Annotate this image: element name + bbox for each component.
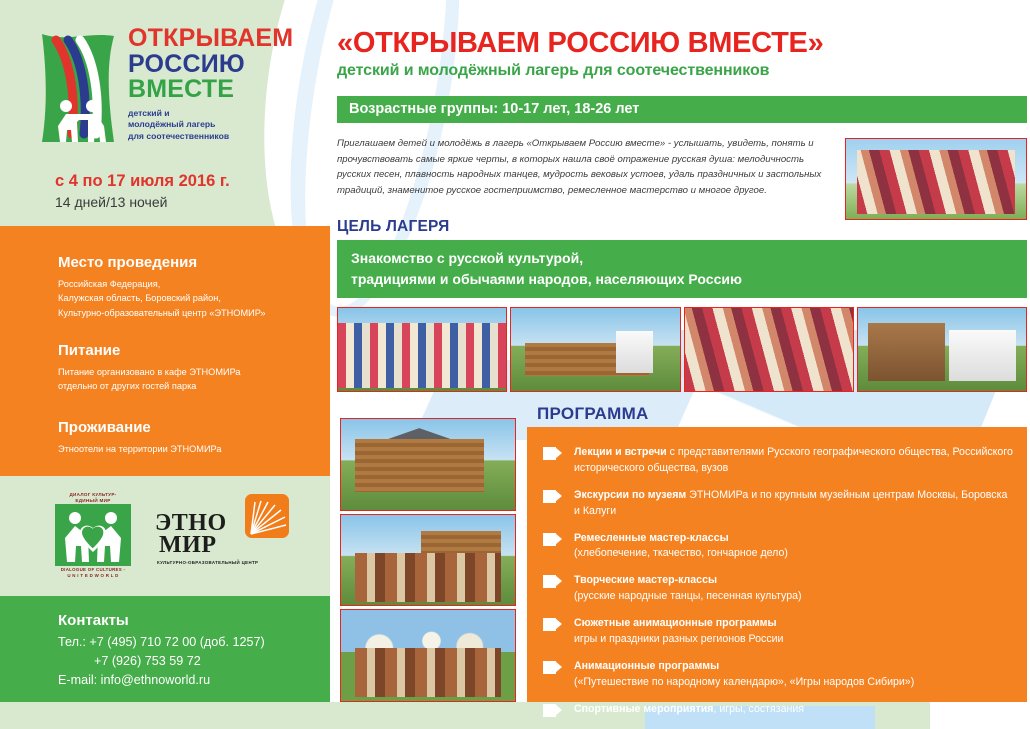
program-item: Ремесленные мастер-классы (хлебопечение,… (543, 531, 1013, 563)
program-item: Анимационные программы («Путешествие по … (543, 659, 1013, 691)
age-groups-band: Возрастные группы: 10-17 лет, 18-26 лет (337, 96, 1027, 123)
program-item-lead: Ремесленные мастер-классы (574, 532, 729, 544)
program-item-lead: Анимационные программы (574, 660, 719, 672)
intro-paragraph: Приглашаем детей и молодёжь в лагерь «От… (337, 136, 832, 198)
program-item-rest: (хлебопечение, ткачество, гончарное дело… (574, 547, 788, 559)
photo-strip-item-3 (684, 307, 854, 392)
program-item-lead: Сюжетные анимационные программы (574, 617, 777, 629)
section-body-accommodation: Этноотели на территории ЭТНОМИРа (58, 442, 290, 456)
logo-line-1: ОТКРЫВАЕМ (128, 26, 308, 52)
date-duration: 14 дней/13 ночей (55, 193, 315, 212)
camp-dates: с 4 по 17 июля 2016 г. 14 дней/13 ночей (55, 172, 315, 212)
logo-line-3: ВМЕСТЕ (128, 77, 308, 103)
etnomir-sunburst-icon (245, 494, 289, 538)
tag-bullet-icon (543, 490, 562, 503)
dialogue-logo-caption-bottom: DIALOGUE OF CULTURES - U N I T E D W O R… (55, 567, 131, 578)
logo-line-2: РОССИЮ (128, 52, 308, 78)
photo-strip (337, 307, 1027, 392)
photo-column-left (340, 418, 516, 702)
contacts-heading: Контакты (58, 612, 330, 629)
tag-bullet-icon (543, 661, 562, 674)
page-subtitle: детский и молодёжный лагерь для соотечес… (337, 62, 1027, 80)
dialogue-logo-caption-top: ДИАЛОГ КУЛЬТУР- ЕДИНЫЙ МИР (55, 492, 131, 503)
dialogue-logo-mark-icon (55, 504, 131, 566)
tag-bullet-icon (543, 533, 562, 546)
date-range: с 4 по 17 июля 2016 г. (55, 172, 315, 192)
flag-people-logo-icon (36, 30, 122, 148)
tag-bullet-icon (543, 447, 562, 460)
brand-logo: ОТКРЫВАЕМ РОССИЮ ВМЕСТЕ детский и молодё… (36, 26, 306, 166)
section-heading-accommodation: Проживание (58, 419, 290, 437)
etnomir-logo: ЭТНО МИР КУЛЬТУРНО-ОБРАЗОВАТЕЛЬНЫЙ ЦЕНТР (155, 494, 305, 576)
contacts-panel: Контакты Тел.: +7 (495) 710 72 00 (доб. … (0, 596, 330, 702)
program-item-rest: игры и праздники разных регионов России (574, 633, 783, 645)
contacts-email[interactable]: E-mail: info@ethnoworld.ru (58, 671, 330, 690)
contacts-phone-secondary[interactable]: +7 (926) 753 59 72 (58, 652, 330, 671)
tag-bullet-icon (543, 575, 562, 588)
photo-column-item-1 (340, 418, 516, 511)
contacts-phone-primary[interactable]: Тел.: +7 (495) 710 72 00 (доб. 1257) (58, 633, 330, 652)
goal-heading: ЦЕЛЬ ЛАГЕРЯ (337, 218, 449, 236)
logo-subtitle: детский и молодёжный лагерь для соотечес… (128, 108, 308, 143)
dialogue-of-cultures-logo: ДИАЛОГ КУЛЬТУР- ЕДИНЫЙ МИР DIALOGUE OF C… (55, 492, 131, 576)
program-list: Лекции и встречи с представителями Русск… (527, 427, 1027, 718)
poster-root: ОТКРЫВАЕМ РОССИЮ ВМЕСТЕ детский и молодё… (0, 0, 1030, 729)
info-orange-panel: Место проведения Российская Федерация, К… (0, 226, 330, 476)
program-item-rest: («Путешествие по народному календарю», «… (574, 676, 914, 688)
goal-text: Знакомство с русской культурой, традиция… (337, 240, 1027, 290)
program-item-lead: Спортивные мероприятия (574, 703, 713, 715)
program-item: Лекции и встречи с представителями Русск… (543, 445, 1013, 477)
program-panel: Лекции и встречи с представителями Русск… (527, 427, 1027, 702)
section-heading-meals: Питание (58, 342, 290, 360)
photo-strip-item-2 (510, 307, 680, 392)
program-item: Сюжетные анимационные программы игры и п… (543, 616, 1013, 648)
program-item-rest: (русские народные танцы, песенная культу… (574, 590, 802, 602)
etnomir-caption: КУЛЬТУРНО-ОБРАЗОВАТЕЛЬНЫЙ ЦЕНТР (157, 560, 258, 565)
photo-strip-item-4 (857, 307, 1027, 392)
etnomir-word-bottom: МИР (159, 534, 216, 557)
photo-top-right-subject (857, 150, 1015, 214)
age-groups-text: Возрастные группы: 10-17 лет, 18-26 лет (337, 96, 1027, 117)
photo-column-item-2 (340, 514, 516, 607)
program-heading: ПРОГРАММА (537, 404, 649, 424)
program-item: Экскурсии по музеям ЭТНОМИРа и по крупны… (543, 488, 1013, 520)
section-heading-venue: Место проведения (58, 254, 290, 272)
photo-column-item-3 (340, 609, 516, 702)
goal-band: Знакомство с русской культурой, традиция… (337, 240, 1027, 298)
program-item-lead: Лекции и встречи (574, 446, 667, 458)
program-item-rest: , игры, состязания (713, 703, 804, 715)
program-item-lead: Творческие мастер-классы (574, 574, 717, 586)
program-item: Спортивные мероприятия, игры, состязания (543, 702, 1013, 718)
section-body-venue: Российская Федерация, Калужская область,… (58, 277, 290, 320)
tag-bullet-icon (543, 704, 562, 717)
section-body-meals: Питание организовано в кафе ЭТНОМИРа отд… (58, 365, 290, 394)
program-item-lead: Экскурсии по музеям (574, 489, 686, 501)
partner-logos: ДИАЛОГ КУЛЬТУР- ЕДИНЫЙ МИР DIALOGUE OF C… (55, 492, 315, 580)
page-title: «ОТКРЫВАЕМ РОССИЮ ВМЕСТЕ» (337, 28, 1027, 58)
program-item: Творческие мастер-классы (русские народн… (543, 573, 1013, 605)
main-headline: «ОТКРЫВАЕМ РОССИЮ ВМЕСТЕ» детский и моло… (337, 28, 1027, 81)
photo-strip-item-1 (337, 307, 507, 392)
brand-logo-text: ОТКРЫВАЕМ РОССИЮ ВМЕСТЕ детский и молодё… (128, 26, 308, 142)
photo-top-right (845, 138, 1027, 220)
tag-bullet-icon (543, 618, 562, 631)
